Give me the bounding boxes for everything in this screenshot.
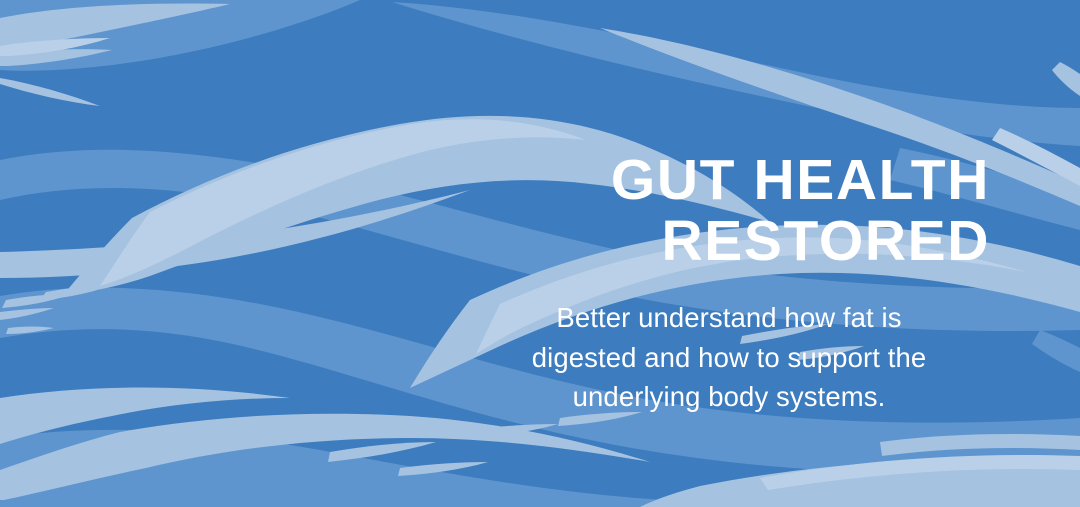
subtitle-line-2: digested and how to support the	[470, 338, 988, 378]
subtitle-line-3: underlying body systems.	[470, 377, 988, 417]
gut-health-banner: GUT HEALTH RESTORED Better understand ho…	[0, 0, 1080, 507]
subtitle-line-1: Better understand how fat is	[470, 298, 988, 338]
banner-text-block: GUT HEALTH RESTORED Better understand ho…	[470, 150, 990, 417]
banner-subtitle: Better understand how fat is digested an…	[470, 298, 990, 417]
headline-line-1: GUT HEALTH	[470, 150, 990, 211]
headline-line-2: RESTORED	[470, 211, 990, 272]
page-title: GUT HEALTH RESTORED	[470, 150, 990, 272]
